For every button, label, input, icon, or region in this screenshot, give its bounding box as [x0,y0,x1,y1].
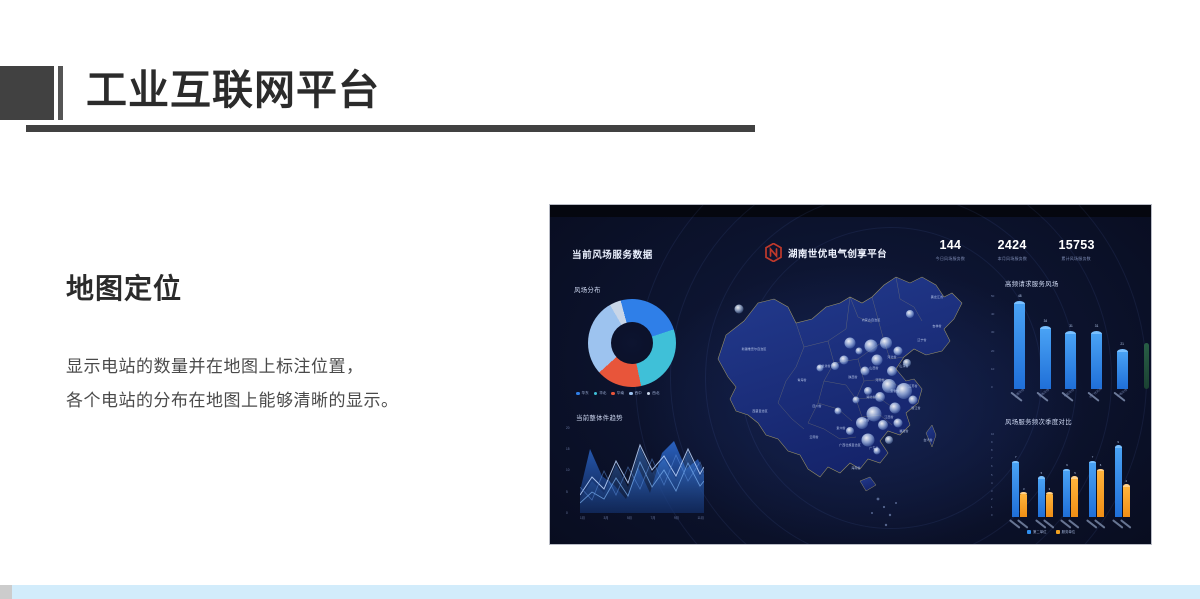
grouped-bar-plot: 7353657694 [1007,435,1135,517]
legend-swatch-icon [1027,530,1031,534]
axis-tick: 0 [566,512,570,515]
axis-tick: 3月 [604,515,609,520]
donut-chart-title: 风场分布 [574,285,601,294]
bar-value: 5 [1069,471,1080,475]
area-chart-panel: 当前整体件趋势 20151050 [566,413,712,528]
stat-card: 2424 本月风场服务数 [997,239,1028,262]
donut-chart-panel: 风场分布 华东华北华南西中西北 [572,287,690,399]
map-data-bubble[interactable] [890,403,901,414]
bar-group[interactable]: 76 [1089,462,1104,517]
bar[interactable]: 48 [1014,303,1025,389]
grouped-bar-chart-title: 风场服务频次季度对比 [1005,417,1072,426]
legend-swatch-icon [594,392,598,396]
map-data-bubble[interactable] [840,355,849,364]
area-chart-plot [580,429,704,513]
axis-tick: 15 [566,448,570,451]
map-data-bubble[interactable] [874,448,881,455]
section-body: 显示电站的数量并在地图上标注位置， 各个电站的分布在地图上能够清晰的显示。 [66,350,496,420]
bar-value: 31 [1091,324,1102,328]
legend-swatch-icon [576,392,580,396]
bar-chart-panel: 高频请求服务风场 50403020100 4834313121 大唐风场国电风场… [991,279,1137,407]
legend-label: 华东 [582,391,589,396]
bar-face [1123,486,1130,517]
bar[interactable]: 31 [1065,333,1076,389]
donut-legend-item[interactable]: 华北 [594,391,607,396]
map-data-bubble[interactable] [906,310,914,318]
bar-face [1089,462,1096,517]
bar-face [1065,333,1076,389]
bar-face [1117,351,1128,389]
axis-tick: 5 [566,491,570,494]
bar-chart-plot: 4834313121 [1007,297,1135,389]
bar-value: 7 [1087,455,1098,459]
stat-label: 累计风场服务数 [1059,256,1094,262]
bar-group[interactable]: 53 [1038,478,1053,517]
page-title: 工业互联网平台 [86,62,380,119]
bar-group[interactable]: 73 [1012,462,1027,517]
donut-legend-item[interactable]: 西中 [629,391,642,396]
province-label: 贵州省 [836,426,845,430]
province-label: 云南省 [809,435,818,439]
bar-group[interactable]: 94 [1115,447,1130,517]
bar-face [1097,470,1104,517]
province-label: 江西省 [884,415,893,419]
map-data-bubble[interactable] [835,408,842,415]
province-label: 台湾省 [923,438,932,442]
province-label: 海南省 [851,466,860,470]
grouped-bar-chart-panel: 风场服务频次季度对比 109876543210 7353657694 第二单位服… [991,417,1137,542]
bar-cap [1123,484,1130,486]
legend-label: 服务单位 [1062,529,1076,534]
map-data-bubble[interactable] [885,436,893,444]
stat-label: 本月风场服务数 [997,256,1026,262]
donut-legend-item[interactable]: 西北 [647,391,660,396]
map-data-bubble[interactable] [846,427,854,435]
bar-value: 48 [1014,294,1025,298]
province-label: 辽宁省 [917,338,926,342]
bar-cap [1012,461,1019,463]
map-data-bubble[interactable] [887,366,897,376]
bar[interactable]: 31 [1091,333,1102,389]
map-data-bubble[interactable] [878,420,888,430]
stat-value: 2424 [997,239,1028,253]
map-data-bubble[interactable] [894,418,903,427]
legend-swatch-icon [647,392,651,396]
map-data-bubble[interactable] [735,304,744,313]
bar-value: 34 [1040,319,1051,323]
legend-label: 西中 [635,391,642,396]
bar-face [1071,478,1078,517]
dashboard-canvas: 当前风场服务数据 湖南世优电气创享平台 144 今日风场服务数 2424 本月风… [550,217,1151,544]
bar-face [1046,494,1053,517]
axis-tick: 7月 [651,515,656,520]
bar-face [1014,303,1025,389]
area-chart-x-axis: 1月3月5月7月9月11月 [580,515,704,520]
map-data-bubble[interactable] [862,433,875,446]
bar-group[interactable]: 65 [1063,470,1078,517]
map-data-bubble[interactable] [882,379,896,393]
axis-tick: 20 [566,427,570,430]
bar-value: 9 [1113,440,1124,444]
province-label: 吉林省 [932,324,941,328]
dashboard-screenshot: 当前风场服务数据 湖南世优电气创享平台 144 今日风场服务数 2424 本月风… [550,205,1151,544]
province-label: 广西壮族自治区 [839,443,861,447]
province-label: 福建省 [899,429,908,433]
section-heading: 地图定位 [66,272,496,306]
stat-value: 15753 [1058,239,1094,253]
bar[interactable]: 5 [1038,478,1045,517]
bar[interactable]: 34 [1040,328,1051,389]
bar-face [1063,470,1070,517]
bar-cap [1115,445,1122,447]
bar-value: 3 [1044,487,1055,491]
bar-value: 3 [1018,487,1029,491]
bar-chart-x-axis: 大唐风场国电风场华能风场中广核风场华电风场 [1007,391,1135,395]
map-data-bubble[interactable] [875,392,885,402]
brand-name: 湖南世优电气创享平台 [788,246,887,260]
bar-value: 7 [1010,455,1021,459]
brand-lockup: 湖南世优电气创享平台 [765,243,887,262]
province-label: 陕西省 [848,375,857,379]
stat-label: 今日风场服务数 [936,256,965,262]
province-label: 黑龙江省 [931,295,943,299]
donut-chart [588,299,676,387]
map-data-bubble[interactable] [872,354,883,365]
legend-swatch-icon [1056,530,1060,534]
bar-value: 4 [1121,479,1132,483]
donut-legend-item[interactable]: 华南 [611,391,624,396]
map-data-bubble[interactable] [880,337,892,349]
dashboard-scrollbar[interactable] [1144,343,1149,389]
axis-tick: 1月 [580,515,585,520]
legend-label: 西北 [652,391,659,396]
body-line-2: 各个电站的分布在地图上能够清晰的显示。 [66,384,496,419]
map-data-bubble[interactable] [865,339,878,352]
company-logo-icon [765,243,782,262]
bar[interactable]: 7 [1089,462,1096,517]
stat-card: 15753 累计风场服务数 [1058,239,1094,262]
bar-cap [1038,476,1045,478]
map-data-bubble[interactable] [861,367,870,376]
bar[interactable]: 3 [1020,494,1027,517]
bar-cap [1071,476,1078,478]
description-block: 地图定位 显示电站的数量并在地图上标注位置， 各个电站的分布在地图上能够清晰的显… [66,272,496,419]
grouped-bar-legend-item[interactable]: 服务单位 [1056,529,1076,534]
bar-cap [1065,331,1076,334]
area-chart-y-axis: 20151050 [566,427,570,515]
map-data-bubble[interactable] [856,417,868,429]
footer-accent-block [0,585,12,599]
map-data-bubble[interactable] [867,407,882,422]
bar-value: 21 [1117,342,1128,346]
map-data-bubble[interactable] [903,359,911,367]
bar-cap [1091,331,1102,334]
bar[interactable]: 3 [1046,494,1053,517]
map-data-bubble[interactable] [845,337,856,348]
map-data-bubble[interactable] [853,396,860,403]
legend-label: 华南 [617,391,624,396]
bar-cap [1097,469,1104,471]
map-data-bubble[interactable] [831,362,839,370]
province-label: 四川省 [812,404,821,408]
grouped-bar-legend-item[interactable]: 第二单位 [1027,529,1047,534]
body-line-1: 显示电站的数量并在地图上标注位置， [66,350,496,385]
dashboard-title: 当前风场服务数据 [572,247,653,261]
bar-value: 31 [1065,324,1076,328]
axis-tick: 5月 [627,515,632,520]
header-rule [26,125,755,132]
bar[interactable]: 5 [1071,478,1078,517]
grouped-bar-legend: 第二单位服务单位 [1027,529,1075,534]
area-chart-title: 当前整体件趋势 [576,413,623,422]
axis-tick: 大唐风场 [1014,388,1026,399]
axis-tick: 华电风场 [1117,388,1129,399]
legend-label: 第二单位 [1033,529,1047,534]
map-data-bubble[interactable] [817,365,824,372]
bar-value: 6 [1095,463,1106,467]
legend-label: 华北 [599,391,606,396]
map-data-bubble[interactable] [856,348,863,355]
bar-face [1038,478,1045,517]
bar-value: 6 [1061,463,1072,467]
china-map-outline [700,263,1000,544]
bar-value: 5 [1036,471,1047,475]
bar-cap [1117,349,1128,352]
axis-tick: 10 [566,469,570,472]
stat-row: 144 今日风场服务数 2424 本月风场服务数 15753 累计风场服务数 [935,239,1095,262]
bar-face [1040,328,1051,389]
bar-cap [1040,326,1051,329]
bar[interactable]: 4 [1123,486,1130,517]
province-label: 新疆维吾尔自治区 [742,347,767,351]
legend-swatch-icon [629,392,633,396]
map-data-bubble[interactable] [909,395,918,404]
bar[interactable]: 6 [1097,470,1104,517]
stat-card: 144 今日风场服务数 [935,239,966,262]
province-label: 内蒙古自治区 [862,318,881,322]
header-accent-block [0,66,54,120]
bar-cap [1014,301,1025,304]
bar-face [1020,494,1027,517]
map-data-bubble[interactable] [894,347,903,356]
province-label: 河北省 [887,355,896,359]
legend-swatch-icon [611,392,615,396]
china-map: 新疆维吾尔自治区西藏自治区青海省甘肃省内蒙古自治区黑龙江省吉林省辽宁省河北省山西… [700,263,1000,544]
province-label: 西藏自治区 [752,409,768,413]
stat-value: 144 [935,239,966,253]
bar-chart-title: 高频请求服务风场 [1005,279,1059,288]
bar-face [1091,333,1102,389]
donut-legend: 华东华北华南西中西北 [576,391,659,396]
axis-tick: 9月 [674,515,679,520]
bar[interactable]: 6 [1063,470,1070,517]
donut-legend-item[interactable]: 华东 [576,391,589,396]
footer-bar [12,585,1200,599]
bar[interactable]: 21 [1117,351,1128,389]
province-label: 青海省 [797,378,806,382]
header-accent-tick [58,66,63,120]
province-label: 浙江省 [911,406,920,410]
map-data-bubble[interactable] [864,387,872,395]
province-label: 山西省 [869,366,878,370]
